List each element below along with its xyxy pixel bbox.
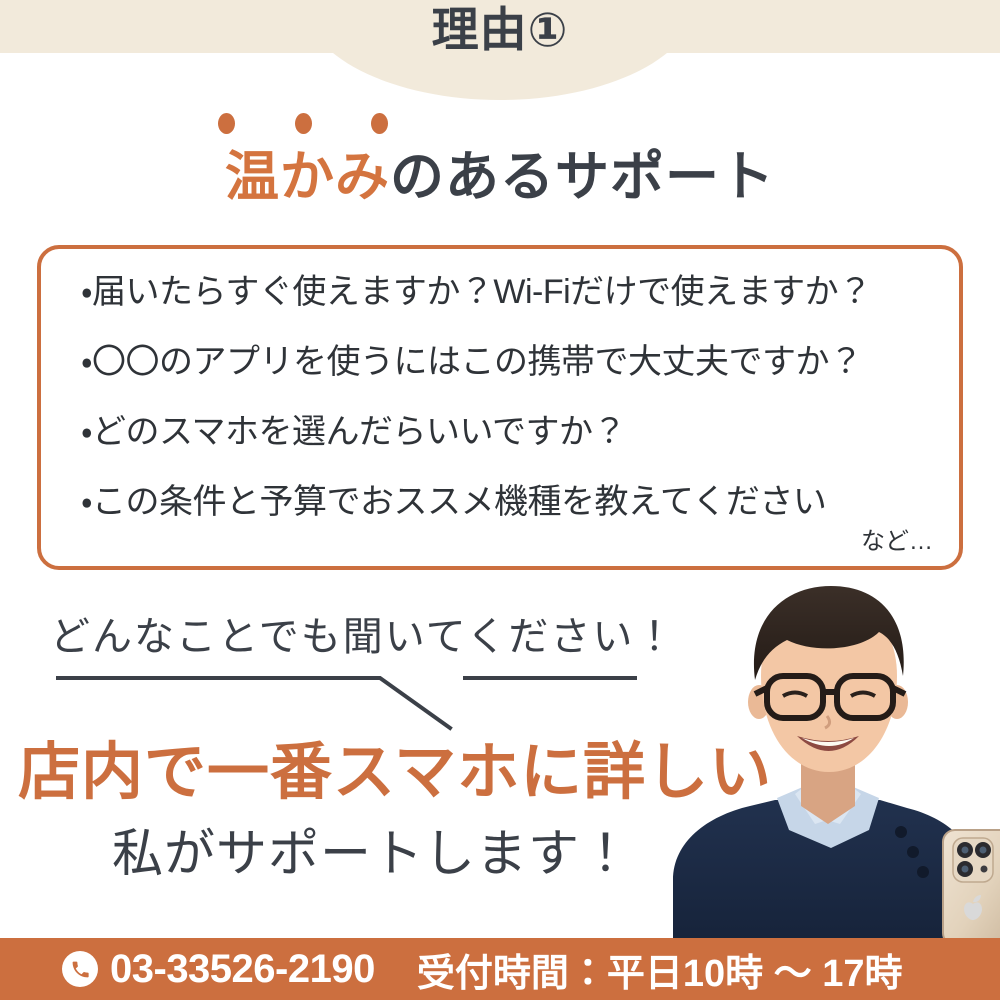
business-hours: 受付時間：平日10時 〜 17時 (417, 942, 903, 997)
question-box-note: など… (861, 521, 933, 556)
question-list: ・届いたらすぐ使えますか？Wi-Fiだけで使えますか？ ・〇〇のアプリを使うには… (81, 275, 941, 519)
banner-title: 理由① (0, 6, 1000, 53)
question-item: ・〇〇のアプリを使うにはこの携帯で大丈夫ですか？ (81, 345, 941, 379)
phone-number[interactable]: 03-33526-2190 (110, 947, 375, 992)
emphasis-dot-1 (218, 113, 235, 134)
emphasis-dots (218, 113, 388, 134)
question-box: ・届いたらすぐ使えますか？Wi-Fiだけで使えますか？ ・〇〇のアプリを使うには… (37, 245, 963, 570)
smartphone (943, 830, 1000, 945)
subtitle-highlight: 温かみ (225, 147, 390, 207)
question-item: ・この条件と予算でおススメ機種を教えてください (81, 485, 941, 519)
subtitle-rest: のあるサポート (390, 147, 775, 207)
question-item: ・届いたらすぐ使えますか？Wi-Fiだけで使えますか？ (81, 275, 941, 309)
poster-root: 理由① 温かみのあるサポート ・届いたらすぐ使えますか？Wi-Fiだけで使えます… (0, 0, 1000, 1000)
phone-handset-glyph (70, 959, 91, 980)
speech-tail-divider (30, 660, 690, 740)
emphasis-dot-3 (371, 113, 388, 134)
middle-tagline: どんなことでも聞いてください！ (50, 604, 676, 662)
emphasis-dot-2 (295, 113, 312, 134)
section-subtitle: 温かみのあるサポート (0, 146, 1000, 210)
headline-primary: 店内で一番スマホに詳しい (18, 742, 772, 804)
contact-footer: 03-33526-2190 受付時間：平日10時 〜 17時 (0, 938, 1000, 1000)
headline-secondary: 私がサポートします！ (112, 828, 632, 879)
question-item: ・どのスマホを選んだらいいですか？ (81, 415, 941, 449)
phone-icon (62, 951, 98, 987)
